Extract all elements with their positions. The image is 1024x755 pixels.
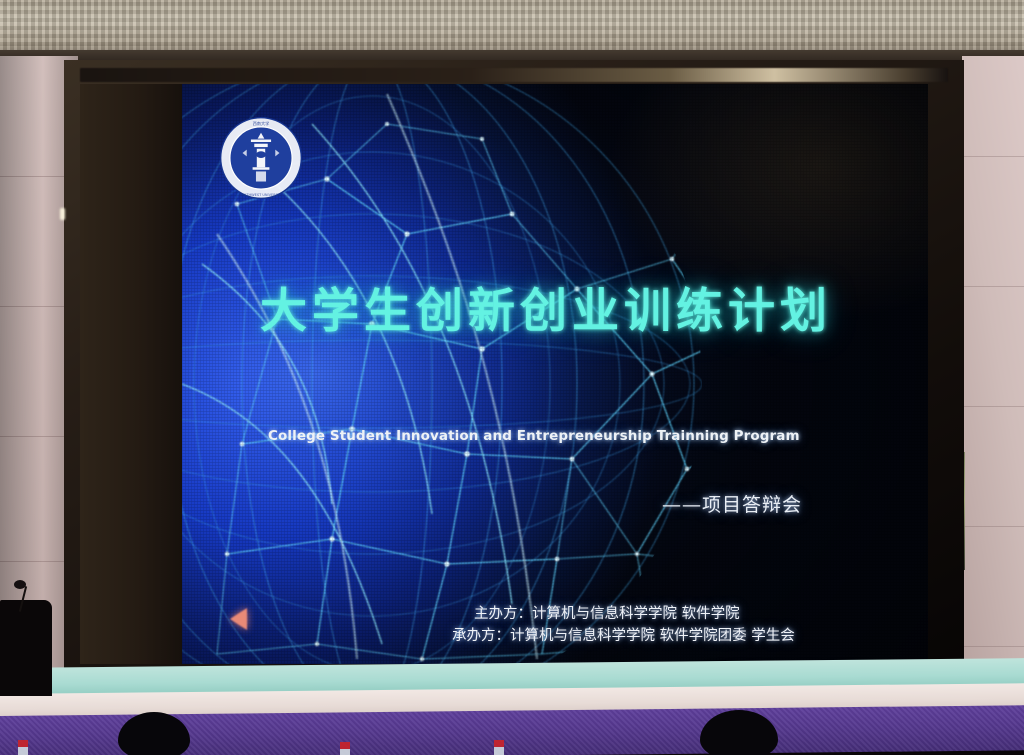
auditorium-scene: 西南大学 SOUTHWEST UNIVERSITY 大学生创新创业训练计划 Co…	[0, 0, 1024, 755]
screen-top-light-strip	[80, 68, 948, 82]
svg-text:SOUTHWEST UNIVERSITY: SOUTHWEST UNIVERSITY	[239, 193, 284, 197]
right-wall	[962, 56, 1024, 696]
microphone-icon	[14, 580, 26, 589]
wall-light-glint	[60, 208, 65, 220]
laser-pointer-arrow-icon	[230, 608, 247, 630]
svg-text:西南大学: 西南大学	[253, 120, 270, 127]
host-line: 主办方：计算机与信息科学学院 软件学院	[474, 603, 795, 625]
water-bottle-2	[340, 742, 350, 755]
water-bottle-3	[494, 740, 504, 755]
screen-left-bezel	[80, 84, 184, 664]
undertaker-line: 承办方：计算机与信息科学学院 软件学院团委 学生会	[452, 625, 795, 647]
slide-title: 大学生创新创业训练计划	[260, 272, 860, 341]
organizer-block: 主办方：计算机与信息科学学院 软件学院 承办方：计算机与信息科学学院 软件学院团…	[474, 603, 795, 647]
water-bottle-1	[18, 740, 28, 755]
university-emblem-logo: 西南大学 SOUTHWEST UNIVERSITY	[219, 116, 303, 200]
lectern-podium	[0, 600, 52, 696]
slide-session-line: ——项目答辩会	[662, 490, 802, 517]
led-screen: 西南大学 SOUTHWEST UNIVERSITY 大学生创新创业训练计划 Co…	[182, 84, 928, 664]
slide-subtitle: College Student Innovation and Entrepren…	[268, 428, 800, 444]
